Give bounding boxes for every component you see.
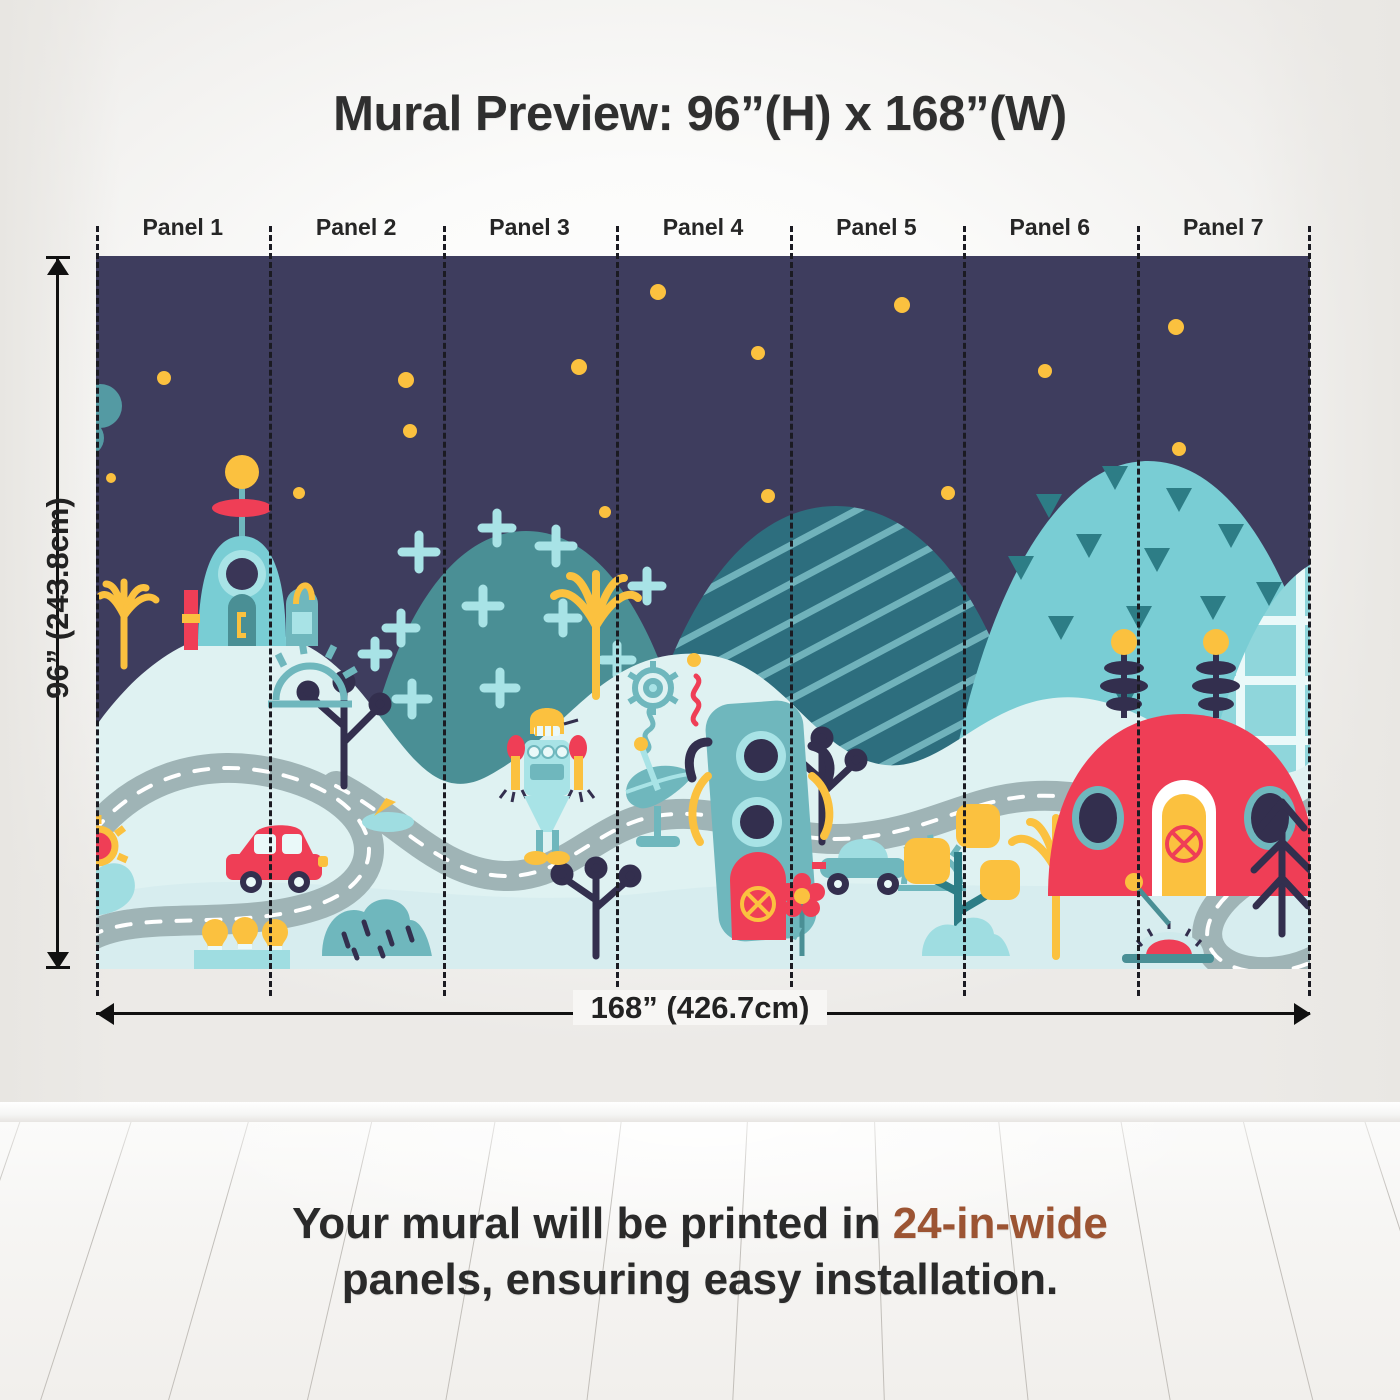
panel-label-7: Panel 7 [1137, 214, 1310, 248]
trail-dot [687, 653, 701, 667]
panel-label-3: Panel 3 [443, 214, 616, 248]
panel-label-row: Panel 1 Panel 2 Panel 3 Panel 4 Panel 5 … [96, 214, 1310, 248]
caption-line1-before: Your mural will be printed in [292, 1199, 893, 1248]
panel-divider-1-2 [269, 226, 272, 996]
panel-divider-6-7 [1137, 226, 1140, 996]
height-arrow-up [47, 258, 69, 275]
baseboard [0, 1102, 1400, 1124]
panel-label-5: Panel 5 [790, 214, 963, 248]
panel-label-2: Panel 2 [269, 214, 442, 248]
panel-divider-2-3 [443, 226, 446, 996]
height-arrow-down [47, 952, 69, 969]
panel-divider-4-5 [790, 226, 793, 996]
panel-divider-edge-left [96, 226, 99, 996]
caption-highlight: 24-in-wide [893, 1199, 1108, 1248]
page-title: Mural Preview: 96”(H) x 168”(W) [0, 86, 1400, 142]
mural-preview-page: Mural Preview: 96”(H) x 168”(W) Panel 1 … [0, 0, 1400, 1400]
panel-divider-3-4 [616, 226, 619, 996]
height-dimension-label: 96” (243.8cm) [40, 448, 76, 748]
panel-label-6: Panel 6 [963, 214, 1136, 248]
footer-caption: Your mural will be printed in 24-in-wide… [0, 1196, 1400, 1309]
width-dimension-label: 168” (426.7cm) [0, 990, 1400, 1026]
panel-divider-edge-right [1308, 226, 1311, 996]
caption-line2: panels, ensuring easy installation. [342, 1255, 1058, 1304]
width-dimension-text: 168” (426.7cm) [573, 990, 828, 1025]
panel-divider-5-6 [963, 226, 966, 996]
panel-label-4: Panel 4 [616, 214, 789, 248]
mural-artwork [96, 256, 1310, 969]
panel-label-1: Panel 1 [96, 214, 269, 248]
